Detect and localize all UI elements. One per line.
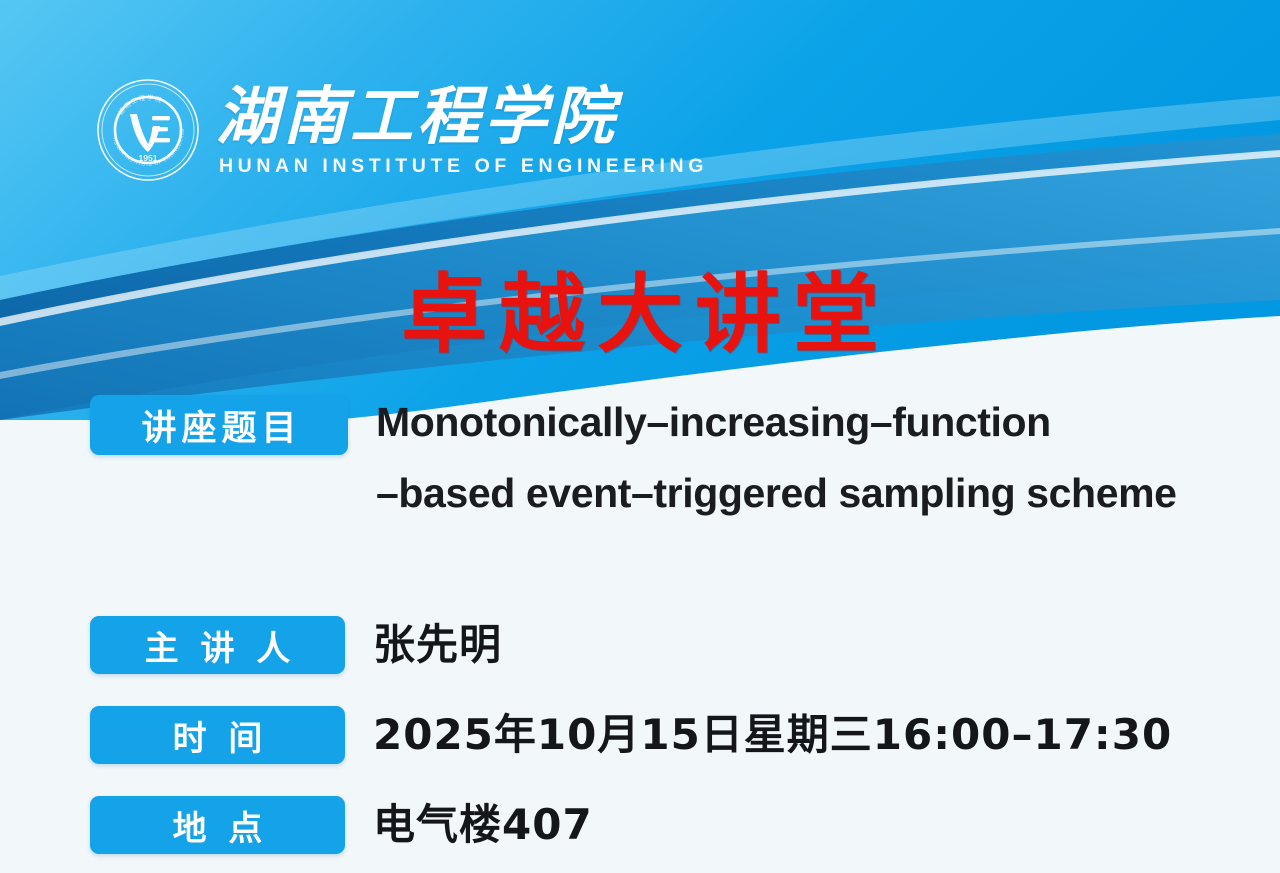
row-topic: 讲座题目 Monotonically–increasing–function –… (0, 395, 1280, 528)
svg-text:湖南工程学院: 湖南工程学院 (116, 93, 164, 117)
brand-name-cn: 湖南工程学院 (216, 84, 708, 150)
row-place: 地 点 电气楼407 (0, 796, 1280, 854)
topic-line-1: Monotonically–increasing–function (376, 387, 1221, 458)
speaker-value: 张先明 (373, 616, 1280, 674)
lecture-poster: 1951 湖南工程学院 HUNAN INSTITUTE OF ENGINEERI… (0, 0, 1280, 873)
place-value: 电气楼407 (373, 796, 1280, 854)
brand-name-en: HUNAN INSTITUTE OF ENGINEERING (216, 155, 708, 178)
row-speaker: 主 讲 人 张先明 (0, 616, 1280, 674)
time-label: 时 间 (90, 706, 345, 764)
hunan-institute-seal-icon: 1951 湖南工程学院 HUNAN INSTITUTE OF ENGINEERI… (96, 78, 200, 182)
brand-wordmark: 湖南工程学院 HUNAN INSTITUTE OF ENGINEERING (216, 82, 708, 177)
info-block: 讲座题目 Monotonically–increasing–function –… (0, 395, 1280, 854)
row-time: 时 间 2025年10月15日星期三16:00–17:30 (0, 706, 1280, 764)
series-title: 卓越大讲堂 (0, 272, 1280, 358)
place-label: 地 点 (90, 796, 345, 854)
topic-line-2: –based event–triggered sampling scheme (376, 458, 1221, 529)
speaker-label: 主 讲 人 (90, 616, 345, 674)
topic-label: 讲座题目 (90, 395, 348, 455)
time-value: 2025年10月15日星期三16:00–17:30 (373, 706, 1280, 764)
brand-lockup: 1951 湖南工程学院 HUNAN INSTITUTE OF ENGINEERI… (96, 78, 708, 182)
topic-value: Monotonically–increasing–function –based… (376, 387, 1221, 528)
